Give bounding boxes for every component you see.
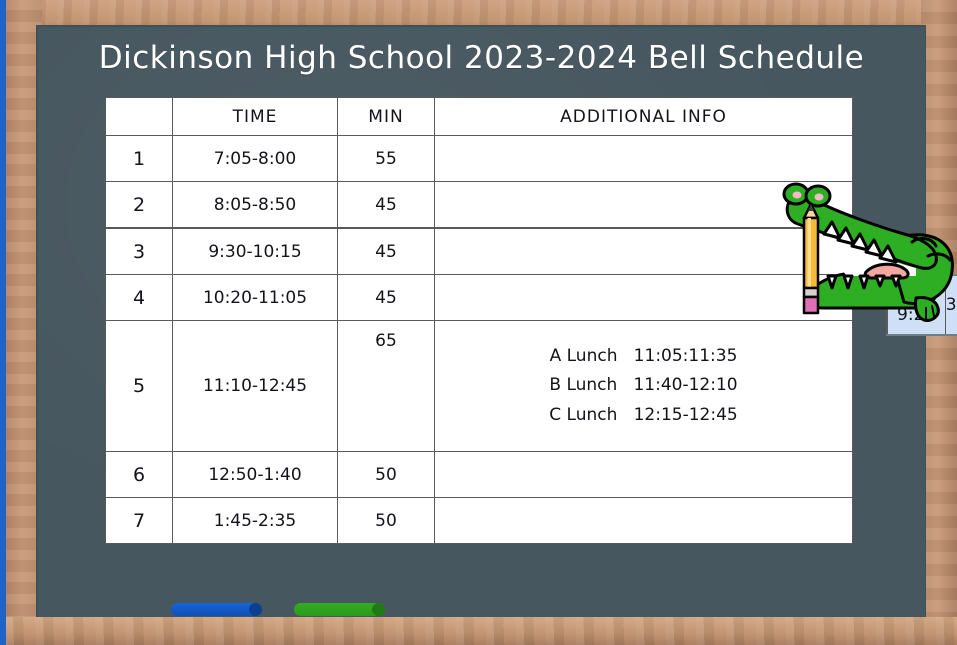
column-header-min: MIN xyxy=(338,98,435,136)
frame-bottom-ledge xyxy=(6,617,957,645)
bell-schedule-table: TIME MIN ADDITIONAL INFO 1 7:05-8:00 55 … xyxy=(105,97,853,544)
cell-time: 1:45-2:35 xyxy=(173,498,338,544)
cell-period: 3 xyxy=(106,229,173,275)
table-row: 7 1:45-2:35 50 xyxy=(106,498,853,544)
cell-info xyxy=(435,136,853,182)
column-header-additional-info: ADDITIONAL INFO xyxy=(435,98,853,136)
page-title: Dickinson High School 2023-2024 Bell Sch… xyxy=(38,40,925,76)
cell-period: 6 xyxy=(106,452,173,498)
cell-info xyxy=(435,182,853,228)
table-header-row: TIME MIN ADDITIONAL INFO xyxy=(106,98,853,136)
table-row: 2 8:05-8:50 45 xyxy=(106,182,853,228)
cell-info xyxy=(435,229,853,275)
cell-info-lunch-blocks: A Lunch 11:05:11:35 B Lunch 11:40-12:10 … xyxy=(435,321,853,452)
cell-time: 8:05-8:50 xyxy=(173,182,338,228)
lunch-line-a: A Lunch 11:05:11:35 xyxy=(435,342,852,371)
lunch-line-c: C Lunch 12:15-12:45 xyxy=(435,401,852,430)
table-row: 3 9:30-10:15 45 xyxy=(106,229,853,275)
cell-info xyxy=(435,498,853,544)
cell-period: 4 xyxy=(106,275,173,321)
table-row-lunch: 5 11:10-12:45 65 A Lunch 11:05:11:35 B L… xyxy=(106,321,853,452)
cell-min: 45 xyxy=(338,182,435,228)
cell-min: 50 xyxy=(338,452,435,498)
cell-period: 7 xyxy=(106,498,173,544)
cell-min: 45 xyxy=(338,229,435,275)
frame-right-rail xyxy=(921,0,957,645)
lunch-line-b: B Lunch 11:40-12:10 xyxy=(435,371,852,400)
cell-period: 1 xyxy=(106,136,173,182)
cell-min: 45 xyxy=(338,275,435,321)
cell-time: 10:20-11:05 xyxy=(173,275,338,321)
cell-period: 5 xyxy=(106,321,173,452)
cell-min: 55 xyxy=(338,136,435,182)
cell-period: 2 xyxy=(106,182,173,228)
green-marker-icon xyxy=(294,603,385,616)
cell-time: 12:50-1:40 xyxy=(173,452,338,498)
cell-info xyxy=(435,275,853,321)
cell-min: 65 xyxy=(338,321,435,452)
table-row: 6 12:50-1:40 50 xyxy=(106,452,853,498)
screenshot-root: Dickinson High School 2023-2024 Bell Sch… xyxy=(0,0,957,645)
blue-marker-icon xyxy=(171,603,262,616)
cell-time: 9:30-10:15 xyxy=(173,229,338,275)
cell-min: 50 xyxy=(338,498,435,544)
table-row: 4 10:20-11:05 45 xyxy=(106,275,853,321)
cell-time: 11:10-12:45 xyxy=(173,321,338,452)
column-header-period xyxy=(106,98,173,136)
column-header-time: TIME xyxy=(173,98,338,136)
table-row: 1 7:05-8:00 55 xyxy=(106,136,853,182)
cell-time: 7:05-8:00 xyxy=(173,136,338,182)
cell-info xyxy=(435,452,853,498)
